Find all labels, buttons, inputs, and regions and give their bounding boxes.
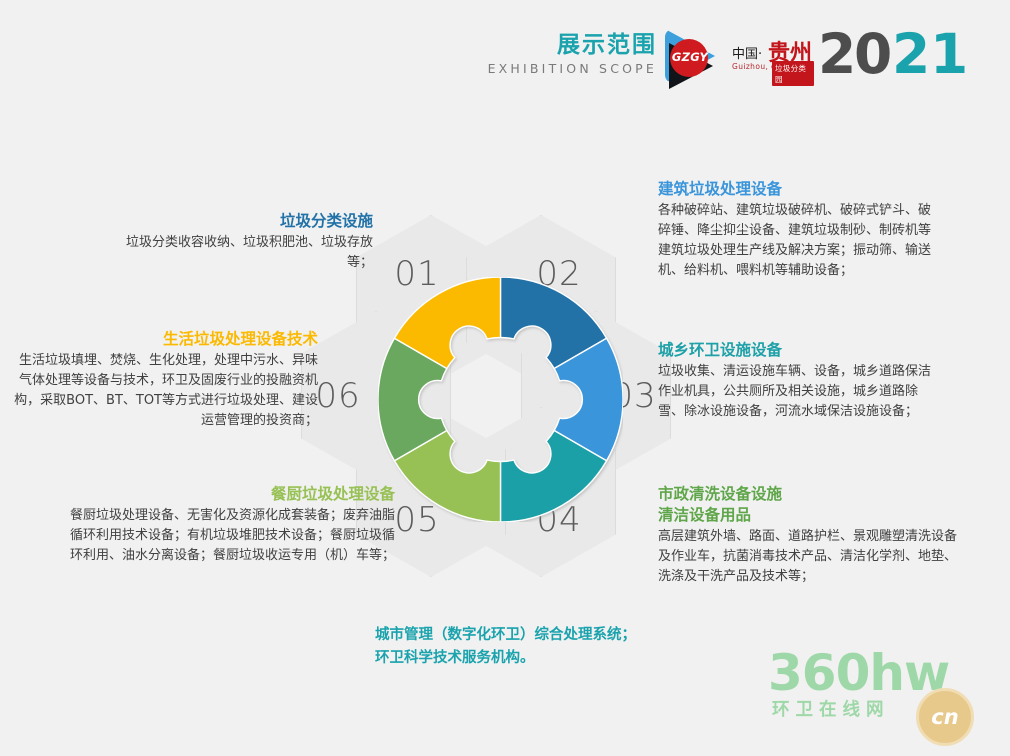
slide-header: 展示范围 EXHIBITION SCOPE GZGY 中国· 贵州 Guizho… — [0, 0, 1010, 110]
section-04-title: 市政清洗设备设施 — [658, 485, 958, 504]
hexagon-06-number: 06 — [315, 376, 360, 416]
page-subtitle: EXHIBITION SCOPE — [480, 62, 657, 76]
year-digit-2: 0 — [854, 22, 889, 86]
slide-canvas: 展示范围 EXHIBITION SCOPE GZGY 中国· 贵州 Guizho… — [0, 0, 1010, 756]
section-block-06: 生活垃圾处理设备技术 生活垃圾填埋、焚烧、生化处理，处理中污水、异味气体处理等设… — [8, 330, 318, 431]
section-06-body: 生活垃圾填埋、焚烧、生化处理，处理中污水、异味气体处理等设备与技术，环卫及固废行… — [8, 351, 318, 431]
section-block-01: 垃圾分类设施 垃圾分类收容收纳、垃圾积肥池、垃圾存放等； — [120, 212, 373, 273]
watermark-360hw: 360hw 环卫在线网 cn — [768, 648, 983, 736]
footer-line-1: 城市管理（数字化环卫）综合处理系统； — [375, 624, 775, 647]
section-05-body: 餐厨垃圾处理设备、无害化及资源化成套装备；废弃油脂循环利用技术设备；有机垃圾堆肥… — [60, 506, 395, 566]
section-block-02: 建筑垃圾处理设备 各种破碎站、建筑垃圾破碎机、破碎式铲斗、破碎锤、降尘抑尘设备、… — [658, 180, 933, 281]
section-03-body: 垃圾收集、清运设施车辆、设备，城乡道路保洁作业机具，公共厕所及相关设施，城乡道路… — [658, 362, 940, 422]
gzgy-wordmark: GZGY — [668, 50, 712, 64]
watermark-subtitle: 环卫在线网 — [772, 696, 890, 721]
section-01-body: 垃圾分类收容收纳、垃圾积肥池、垃圾存放等； — [120, 233, 373, 273]
section-02-title: 建筑垃圾处理设备 — [658, 180, 933, 199]
section-02-body: 各种破碎站、建筑垃圾破碎机、破碎式铲斗、破碎锤、降尘抑尘设备、建筑垃圾制砂、制砖… — [658, 201, 933, 281]
year-2021-logo: 2 0 2 1 — [818, 28, 968, 84]
section-05-title: 餐厨垃圾处理设备 — [60, 485, 395, 504]
section-block-04: 市政清洗设备设施 清洁设备用品 高层建筑外墙、路面、道路护栏、景观雕塑清洗设备及… — [658, 485, 958, 587]
section-06-title: 生活垃圾处理设备技术 — [8, 330, 318, 349]
section-block-05: 餐厨垃圾处理设备 餐厨垃圾处理设备、无害化及资源化成套装备；废弃油脂循环利用技术… — [60, 485, 395, 566]
year-digit-4: 1 — [930, 22, 965, 86]
puzzle-donut-chart — [378, 277, 623, 522]
donut-svg — [378, 277, 623, 522]
section-block-03: 城乡环卫设施设备 垃圾收集、清运设施车辆、设备，城乡道路保洁作业机具，公共厕所及… — [658, 341, 940, 422]
watermark-brand: 360hw — [768, 644, 949, 702]
year-digit-1: 2 — [818, 22, 853, 86]
footer-note: 城市管理（数字化环卫）综合处理系统； 环卫科学技术服务机构。 — [375, 624, 775, 670]
guizhou-prefix: 中国· — [732, 43, 762, 62]
footer-line-2: 环卫科学技术服务机构。 — [375, 647, 775, 670]
section-04-body: 高层建筑外墙、路面、道路护栏、景观雕塑清洗设备及作业车，抗菌消毒技术产品、清洁化… — [658, 527, 958, 587]
watermark-cn-badge-icon: cn — [916, 688, 974, 746]
guizhou-logo: 中国· 贵州 Guizhou, china 垃圾分类园 — [732, 38, 814, 80]
section-03-title: 城乡环卫设施设备 — [658, 341, 940, 360]
guizhou-badge: 垃圾分类园 — [772, 61, 814, 86]
gzgy-logo-icon: GZGY — [665, 27, 727, 89]
section-04-title-line2: 清洁设备用品 — [658, 506, 958, 525]
year-digit-3: 2 — [892, 22, 927, 86]
section-01-title: 垃圾分类设施 — [120, 212, 373, 231]
page-title: 展示范围 — [507, 32, 657, 58]
